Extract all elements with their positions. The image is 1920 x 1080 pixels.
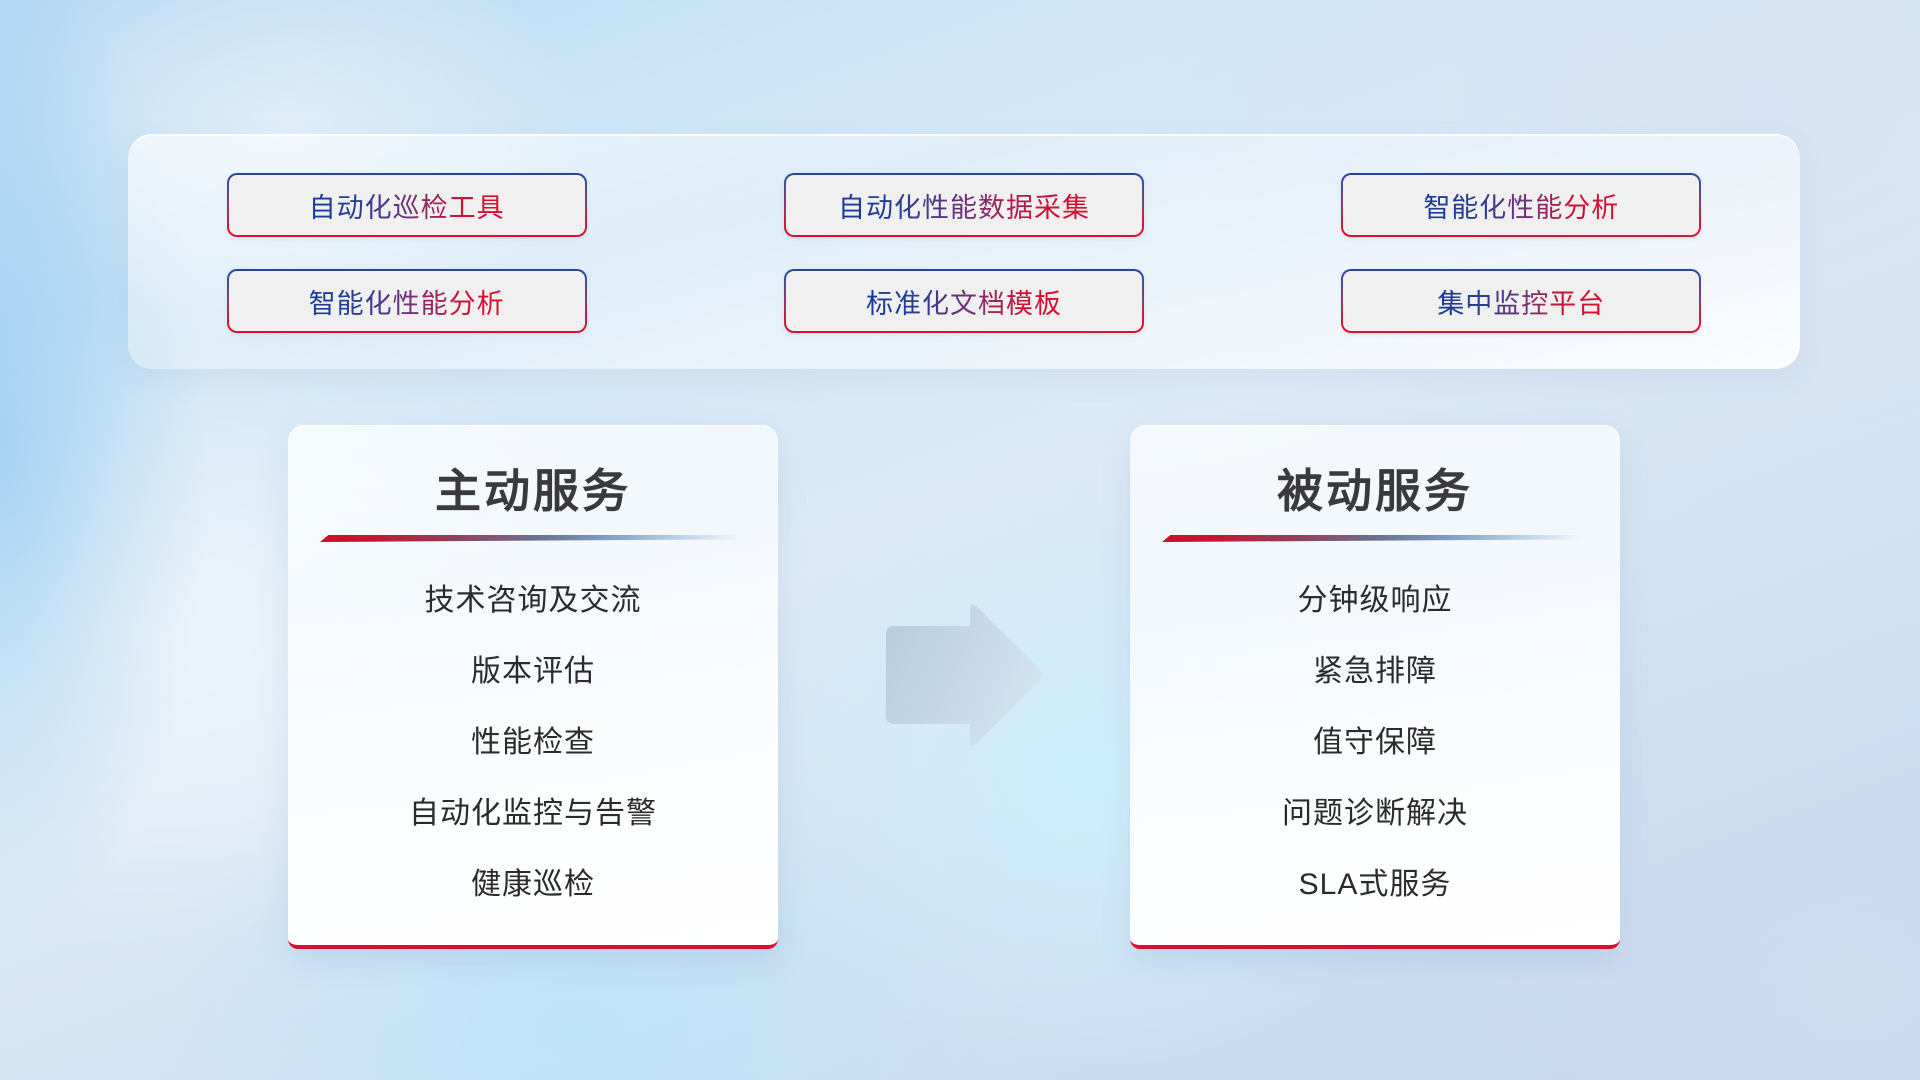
service-item-list: 分钟级响应 紧急排障 值守保障 问题诊断解决 SLA式服务 [1130,575,1620,903]
service-card-title: 被动服务 [1130,455,1620,521]
service-list-item: 自动化监控与告警 [409,788,657,832]
service-list-item: 技术咨询及交流 [425,575,642,619]
service-list-item: 健康巡检 [471,859,595,903]
capability-panel: 自动化巡检工具 自动化性能数据采集 智能化性能分析 智能化性能分析 标准化文档模… [128,134,1800,369]
service-card-title: 主动服务 [288,455,778,521]
capability-pill-label: 标准化文档模板 [866,282,1062,321]
service-item-list: 技术咨询及交流 版本评估 性能检查 自动化监控与告警 健康巡检 [288,575,778,903]
service-card-passive[interactable]: 被动服务 分钟级响应 紧急排障 值守保障 问题诊断解决 SLA式服务 [1130,425,1620,949]
capability-pill-6[interactable]: 集中监控平台 [1341,269,1701,333]
service-list-item: 问题诊断解决 [1282,788,1468,832]
service-list-item: 值守保障 [1313,717,1437,761]
service-list-item: 性能检查 [471,717,595,761]
capability-pill-2[interactable]: 自动化性能数据采集 [784,173,1144,237]
capability-pill-4[interactable]: 智能化性能分析 [227,269,587,333]
capability-pill-grid: 自动化巡检工具 自动化性能数据采集 智能化性能分析 智能化性能分析 标准化文档模… [128,135,1800,369]
right-arrow-icon [878,604,1044,748]
service-card-active[interactable]: 主动服务 技术咨询及交流 版本评估 性能检查 自动化监控与告警 健康巡检 [288,425,778,949]
capability-pill-label: 集中监控平台 [1437,282,1605,321]
capability-pill-5[interactable]: 标准化文档模板 [784,269,1144,333]
capability-pill-label: 智能化性能分析 [309,282,505,321]
card-divider [1162,535,1582,542]
capability-pill-label: 自动化性能数据采集 [838,186,1090,225]
capability-pill-label: 智能化性能分析 [1423,186,1619,225]
capability-pill-3[interactable]: 智能化性能分析 [1341,173,1701,237]
service-list-item: 紧急排障 [1313,646,1437,690]
card-divider [320,535,740,542]
service-list-item: SLA式服务 [1299,859,1452,903]
capability-pill-label: 自动化巡检工具 [309,186,505,225]
capability-pill-1[interactable]: 自动化巡检工具 [227,173,587,237]
service-list-item: 分钟级响应 [1298,575,1453,619]
service-list-item: 版本评估 [471,646,595,690]
